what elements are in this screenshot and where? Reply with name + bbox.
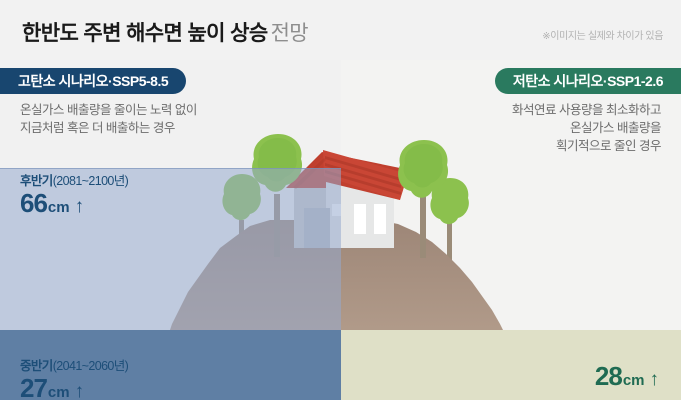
callout-low-carbon-unit: cm: [623, 372, 645, 389]
callout-late-century: 후반기(2081~2100년) 66cm↑: [20, 170, 128, 218]
badge-low-carbon-label: 저탄소 시나리오·SSP1-2.6: [513, 71, 663, 91]
callout-mid-century-period-label: 중반기: [20, 359, 53, 373]
disclaimer-note: ※이미지는 실제와 차이가 있음: [542, 27, 663, 42]
badge-high-carbon-label: 고탄소 시나리오·SSP5-8.5: [18, 71, 168, 91]
callout-mid-century: 중반기(2041~2060년) 27cm↑: [20, 355, 128, 400]
callout-mid-century-unit: cm: [48, 384, 70, 400]
tree-icon: [398, 138, 450, 258]
description-high-carbon: 온실가스 배출량을 줄이는 노력 없이 지금처럼 혹은 더 배출하는 경우: [20, 101, 197, 137]
callout-late-century-unit: cm: [48, 199, 70, 216]
callout-low-carbon: 28cm↑: [595, 363, 659, 391]
water-line-late-century: [0, 168, 341, 169]
callout-low-carbon-value: 28: [595, 363, 622, 389]
callout-late-century-period: 후반기(2081~2100년): [20, 170, 128, 189]
header: 한반도 주변 해수면 높이 상승전망 ※이미지는 실제와 차이가 있음: [0, 0, 681, 60]
callout-late-century-period-label: 후반기: [20, 174, 53, 188]
callout-late-century-period-years: (2081~2100년): [53, 174, 129, 188]
callout-mid-century-value: 27: [20, 375, 47, 400]
up-arrow-icon: ↑: [75, 381, 85, 400]
description-low-carbon: 화석연료 사용량을 최소화하고 온실가스 배출량을 획기적으로 줄인 경우: [512, 101, 661, 155]
callout-mid-century-period: 중반기(2041~2060년): [20, 355, 128, 374]
callout-mid-century-period-years: (2041~2060년): [53, 359, 129, 373]
badge-low-carbon-scenario[interactable]: 저탄소 시나리오·SSP1-2.6: [495, 68, 681, 94]
page-title-light: 전망: [271, 22, 308, 45]
infographic-root: 한반도 주변 해수면 높이 상승전망 ※이미지는 실제와 차이가 있음: [0, 0, 681, 400]
callout-late-century-value: 66: [20, 190, 47, 216]
page-title: 한반도 주변 해수면 높이 상승전망: [22, 17, 308, 47]
up-arrow-icon: ↑: [75, 196, 85, 217]
page-title-strong: 한반도 주변 해수면 높이 상승: [22, 22, 268, 45]
badge-high-carbon-scenario[interactable]: 고탄소 시나리오·SSP5-8.5: [0, 68, 186, 94]
up-arrow-icon: ↑: [650, 369, 660, 390]
